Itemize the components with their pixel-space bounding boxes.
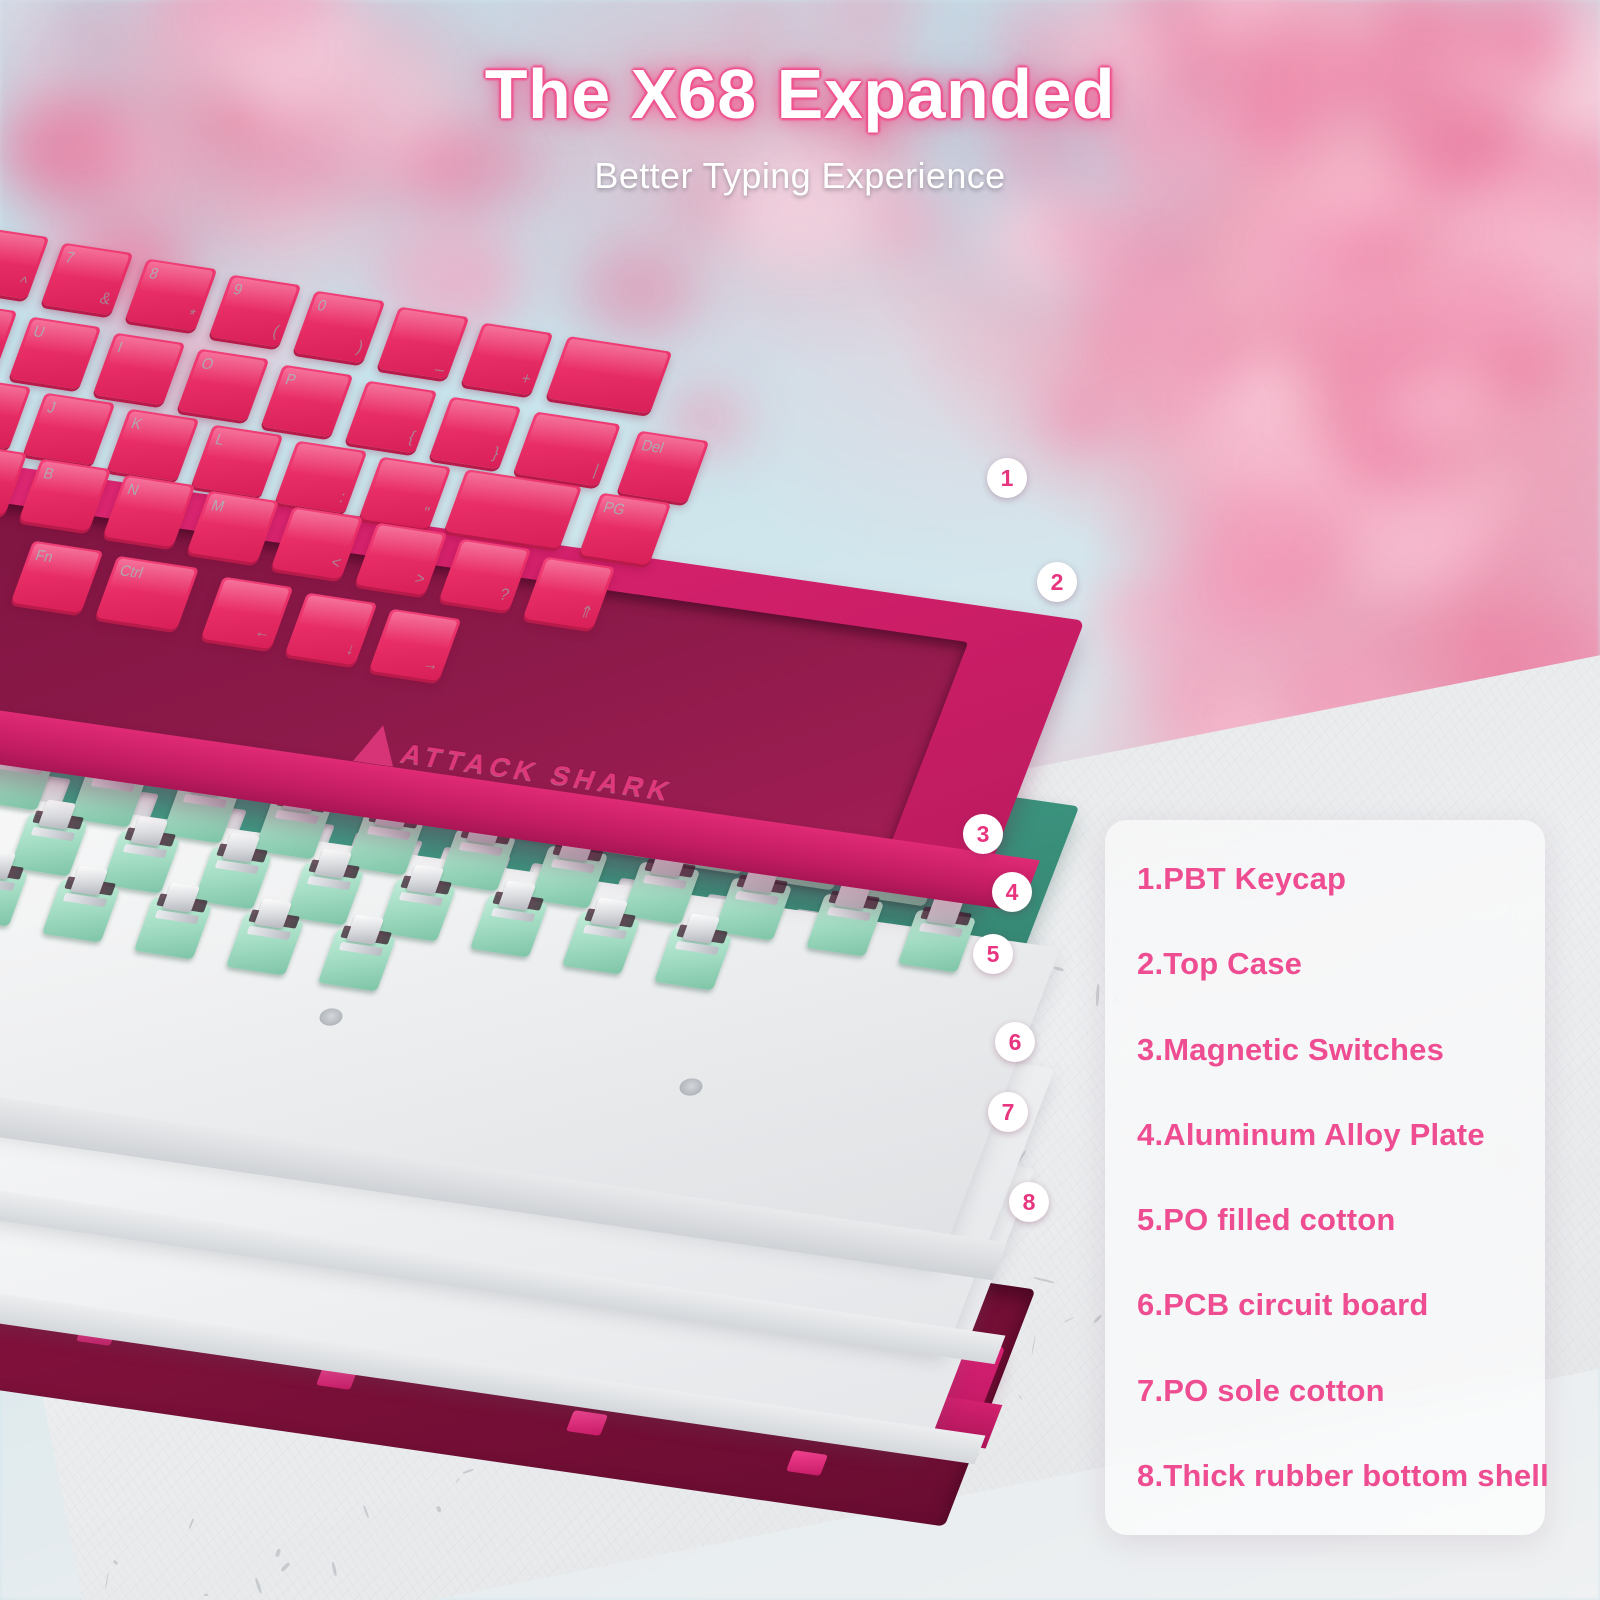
blossom-blob (1559, 369, 1600, 420)
keycap[interactable]: J (23, 393, 116, 466)
blossom-blob (21, 19, 56, 47)
keycap[interactable]: N (103, 475, 196, 548)
legend-item-5: 5.PO filled cotton (1105, 1203, 1545, 1237)
callout-badge-5[interactable]: 5 (973, 934, 1013, 974)
keycap-sublegend: ( (270, 323, 282, 342)
keycap[interactable]: { (345, 381, 438, 454)
infographic-canvas: The X68 Expanded Better Typing Experienc… (0, 0, 1600, 1600)
keycap-sublegend: { (406, 429, 418, 448)
keycap[interactable]: Fn (11, 541, 104, 614)
keycap-sublegend: + (518, 370, 533, 389)
keycap-legend: P (283, 371, 299, 389)
keycap-sublegend: < (328, 554, 343, 573)
magnetic-switch (898, 910, 976, 973)
keycap[interactable]: Del (617, 431, 710, 504)
marble-speck (1093, 1314, 1102, 1323)
keycap-sublegend: ? (496, 586, 511, 605)
keycap[interactable] (444, 469, 582, 549)
keycap[interactable]: M (187, 491, 280, 564)
callout-badge-4[interactable]: 4 (992, 872, 1032, 912)
blossom-blob (1336, 214, 1436, 296)
keycap[interactable]: ? (439, 539, 532, 612)
switch-leaf (735, 891, 780, 905)
keycap-legend: J (45, 399, 58, 417)
magnetic-switch (654, 927, 732, 990)
keycap[interactable]: 9( (209, 275, 302, 348)
blossom-blob (1533, 530, 1600, 591)
magnetic-switch (226, 912, 304, 975)
switch-leaf (583, 924, 628, 938)
marble-speck (1063, 1317, 1074, 1323)
switch-leaf (247, 926, 292, 940)
blossom-blob (1430, 261, 1536, 348)
keycap-sublegend: _ (434, 354, 449, 373)
legend-item-7: 7.PO sole cotton (1105, 1374, 1545, 1408)
blossom-blob (1205, 482, 1354, 604)
keycap-sublegend: ^ (16, 274, 30, 293)
keycap-legend: M (209, 497, 227, 516)
keycap-legend: 0 (315, 297, 329, 315)
keycap[interactable]: Ctrl (95, 556, 199, 630)
keycap-sublegend: & (97, 290, 114, 310)
switch-leaf (675, 941, 720, 955)
keycap[interactable]: " (359, 457, 452, 530)
keycap[interactable]: ← (201, 577, 294, 650)
keycap[interactable]: → (369, 609, 462, 682)
keycap-legend: O (199, 355, 216, 374)
keycap-sublegend: ) (354, 339, 366, 358)
keycap[interactable]: > (355, 523, 448, 596)
keycap[interactable]: < (271, 507, 364, 580)
callout-badge-2[interactable]: 2 (1037, 562, 1077, 602)
magnetic-switch (318, 929, 396, 992)
keycap[interactable]: 0) (293, 291, 386, 364)
keycap-legend: PG (601, 499, 628, 519)
keycap[interactable]: ↓ (285, 593, 378, 666)
keycap-sublegend: : (337, 489, 348, 508)
keycap-legend: Del (639, 437, 667, 457)
keycap[interactable]: 7& (41, 243, 134, 316)
blossom-blob (1550, 438, 1594, 474)
legend-item-8: 8.Thick rubber bottom shell (1105, 1459, 1545, 1493)
marble-speck (1096, 984, 1101, 1006)
keycap[interactable]: ⇑ (523, 557, 616, 630)
switch-leaf (399, 892, 444, 906)
blossom-blob (1143, 401, 1178, 430)
keycap[interactable]: L (191, 425, 284, 498)
keycap-sublegend: } (490, 445, 502, 464)
keycap-sublegend: ↓ (343, 640, 357, 659)
keycap-sublegend: ⇑ (576, 602, 596, 624)
magnetic-switch (562, 911, 640, 974)
blossom-blob (56, 0, 116, 49)
switch-leaf (491, 908, 536, 922)
callout-badge-3[interactable]: 3 (963, 814, 1003, 854)
switch-leaf (339, 942, 384, 956)
page-title: The X68 Expanded (0, 54, 1600, 134)
keycap-legend: K (129, 415, 145, 433)
switch-leaf (155, 909, 200, 923)
blossom-blob (730, 4, 780, 45)
blossom-blob (1145, 669, 1229, 738)
keycap[interactable]: } (429, 397, 522, 470)
magnetic-switch (806, 894, 884, 957)
switch-leaf (827, 907, 872, 921)
legend-item-2: 2.Top Case (1105, 947, 1545, 981)
legend-item-3: 3.Magnetic Switches (1105, 1033, 1545, 1067)
keycap-sublegend: | (591, 462, 601, 481)
keycap-legend: Fn (33, 547, 56, 567)
keycap-sublegend: ← (252, 623, 274, 643)
component-legend-card: 1.PBT Keycap2.Top Case3.Magnetic Switche… (1105, 820, 1545, 1535)
keycap-legend: 7 (63, 249, 77, 267)
magnetic-switch (134, 896, 212, 959)
keycap[interactable]: | (513, 412, 621, 487)
keycap-legend: 9 (231, 281, 245, 299)
keycap-legend: Ctrl (117, 562, 145, 582)
legend-item-4: 4.Aluminum Alloy Plate (1105, 1118, 1545, 1152)
magnetic-switch (470, 895, 548, 958)
keycap-sublegend: * (185, 307, 197, 326)
blossom-blob (1476, 478, 1516, 511)
keycap[interactable]: 8* (125, 259, 218, 332)
keycap[interactable]: U (9, 317, 102, 390)
switch-leaf (63, 893, 108, 907)
keycap[interactable]: _ (377, 307, 470, 380)
keycap[interactable]: 6^ (0, 227, 49, 300)
keycap[interactable]: : (275, 441, 368, 514)
keycap-sublegend: → (420, 655, 442, 675)
keycap[interactable]: K (107, 409, 200, 482)
switch-leaf (919, 923, 964, 937)
keycap-legend: I (115, 339, 125, 357)
keycap[interactable]: PG (579, 493, 672, 566)
legend-item-6: 6.PCB circuit board (1105, 1288, 1545, 1322)
keycap[interactable]: I (93, 333, 186, 406)
blossom-blob (820, 0, 921, 47)
magnetic-switch (42, 880, 120, 943)
keycap[interactable] (546, 336, 673, 414)
keycap[interactable]: P (261, 365, 354, 438)
blossom-blob (1087, 313, 1166, 378)
keycap-sublegend: " (420, 505, 432, 524)
keycap-legend: U (31, 323, 47, 342)
keycap-sublegend: > (412, 570, 427, 589)
callout-badge-7[interactable]: 7 (988, 1092, 1028, 1132)
keycap[interactable]: B (19, 459, 112, 532)
blossom-blob (1182, 325, 1254, 384)
keycap[interactable]: O (177, 349, 270, 422)
keycap[interactable]: + (461, 323, 554, 396)
keycap[interactable]: H (0, 377, 31, 450)
keycap-legend: L (213, 431, 227, 449)
pbt-keycap-layer: 4$5%6^7&8*9(0)_+RTYUIOP{}|DelFGHJKL:"PGV… (0, 170, 1070, 710)
callout-badge-8[interactable]: 8 (1009, 1182, 1049, 1222)
callout-badge-6[interactable]: 6 (995, 1022, 1035, 1062)
keycap-legend: N (125, 481, 141, 500)
keycap-legend: B (41, 465, 57, 483)
legend-item-1: 1.PBT Keycap (1105, 862, 1545, 896)
callout-badge-1[interactable]: 1 (987, 458, 1027, 498)
keycap-legend: 8 (147, 265, 161, 283)
